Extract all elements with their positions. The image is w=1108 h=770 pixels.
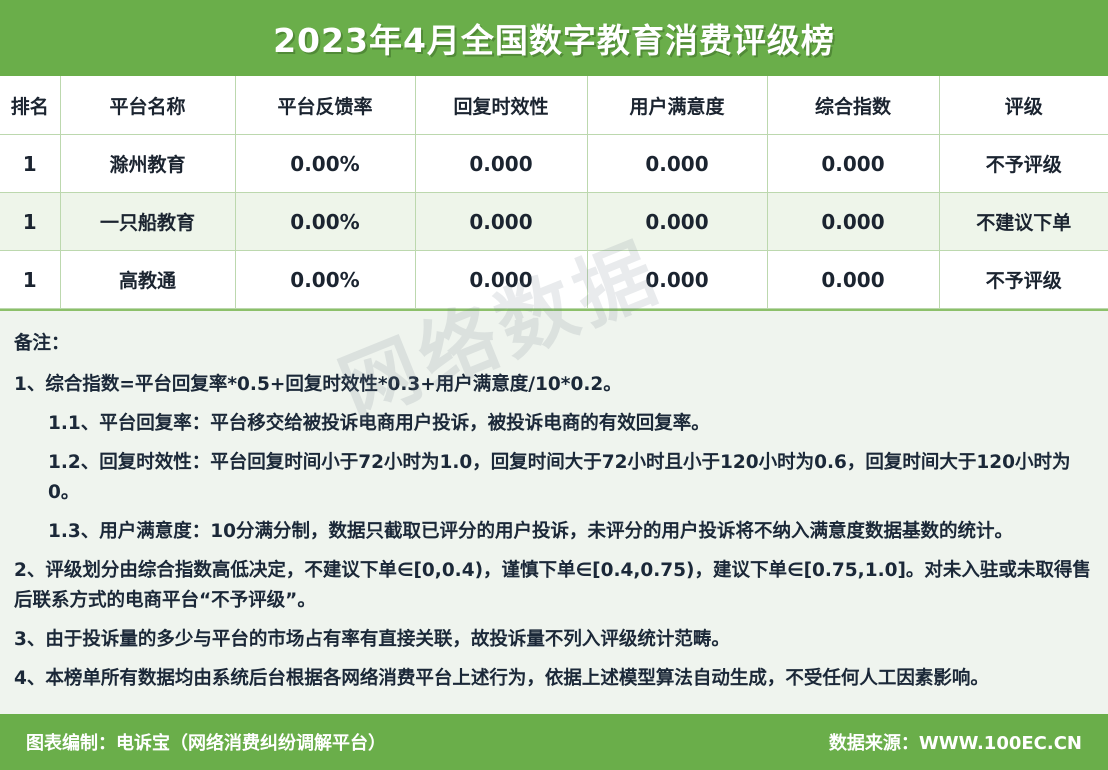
note-item-4: 4、本榜单所有数据均由系统后台根据各网络消费平台上述行为，依据上述模型算法自动生… bbox=[14, 664, 1094, 694]
cell-grade: 不予评级 bbox=[939, 135, 1108, 193]
column-header-feedback-rate: 平台反馈率 bbox=[235, 76, 415, 135]
cell-feedback-rate: 0.00% bbox=[235, 193, 415, 251]
column-header-grade: 评级 bbox=[939, 76, 1108, 135]
cell-user-satisfaction: 0.000 bbox=[587, 193, 767, 251]
cell-composite-index: 0.000 bbox=[767, 135, 939, 193]
cell-platform: 滁州教育 bbox=[60, 135, 235, 193]
cell-grade: 不予评级 bbox=[939, 251, 1108, 309]
cell-reply-timeliness: 0.000 bbox=[415, 193, 587, 251]
ranking-table-container: 排名 平台名称 平台反馈率 回复时效性 用户满意度 综合指数 评级 1 滁州教育… bbox=[0, 76, 1108, 311]
page-title: 2023年4月全国数字教育消费评级榜 bbox=[273, 14, 835, 62]
table-row: 1 一只船教育 0.00% 0.000 0.000 0.000 不建议下单 bbox=[0, 193, 1108, 251]
cell-rank: 1 bbox=[0, 135, 60, 193]
note-item-3: 3、由于投诉量的多少与平台的市场占有率有直接关联，故投诉量不列入评级统计范畴。 bbox=[14, 625, 1094, 655]
cell-feedback-rate: 0.00% bbox=[235, 135, 415, 193]
table-row: 1 滁州教育 0.00% 0.000 0.000 0.000 不予评级 bbox=[0, 135, 1108, 193]
cell-feedback-rate: 0.00% bbox=[235, 251, 415, 309]
column-header-rank: 排名 bbox=[0, 76, 60, 135]
cell-user-satisfaction: 0.000 bbox=[587, 135, 767, 193]
notes-heading: 备注： bbox=[14, 329, 1094, 359]
column-header-platform: 平台名称 bbox=[60, 76, 235, 135]
note-item-1: 1、综合指数=平台回复率*0.5+回复时效性*0.3+用户满意度/10*0.2。 bbox=[14, 370, 1094, 400]
ranking-infographic: 2023年4月全国数字教育消费评级榜 排名 平台名称 平台反馈率 回复时效性 用… bbox=[0, 0, 1108, 770]
header-bar: 2023年4月全国数字教育消费评级榜 bbox=[0, 0, 1108, 76]
column-header-user-satisfaction: 用户满意度 bbox=[587, 76, 767, 135]
ranking-table: 排名 平台名称 平台反馈率 回复时效性 用户满意度 综合指数 评级 1 滁州教育… bbox=[0, 76, 1108, 309]
note-item-2: 2、评级划分由综合指数高低决定，不建议下单∈[0,0.4)，谨慎下单∈[0.4,… bbox=[14, 556, 1094, 616]
footer-credit: 图表编制：电诉宝（网络消费纠纷调解平台） bbox=[26, 729, 386, 755]
footer-source: 数据来源：WWW.100EC.CN bbox=[829, 729, 1082, 755]
column-header-reply-timeliness: 回复时效性 bbox=[415, 76, 587, 135]
table-row: 1 高教通 0.00% 0.000 0.000 0.000 不予评级 bbox=[0, 251, 1108, 309]
notes-section: 备注： 1、综合指数=平台回复率*0.5+回复时效性*0.3+用户满意度/10*… bbox=[0, 311, 1108, 714]
cell-grade: 不建议下单 bbox=[939, 193, 1108, 251]
table-header-row: 排名 平台名称 平台反馈率 回复时效性 用户满意度 综合指数 评级 bbox=[0, 76, 1108, 135]
cell-composite-index: 0.000 bbox=[767, 251, 939, 309]
note-item-1-2: 1.2、回复时效性：平台回复时间小于72小时为1.0，回复时间大于72小时且小于… bbox=[14, 448, 1094, 508]
cell-platform: 高教通 bbox=[60, 251, 235, 309]
footer-bar: 图表编制：电诉宝（网络消费纠纷调解平台） 数据来源：WWW.100EC.CN bbox=[0, 714, 1108, 770]
cell-composite-index: 0.000 bbox=[767, 193, 939, 251]
note-item-1-1: 1.1、平台回复率：平台移交给被投诉电商用户投诉，被投诉电商的有效回复率。 bbox=[14, 409, 1094, 439]
cell-reply-timeliness: 0.000 bbox=[415, 135, 587, 193]
column-header-composite-index: 综合指数 bbox=[767, 76, 939, 135]
cell-user-satisfaction: 0.000 bbox=[587, 251, 767, 309]
note-item-1-3: 1.3、用户满意度：10分满分制，数据只截取已评分的用户投诉，未评分的用户投诉将… bbox=[14, 517, 1094, 547]
cell-reply-timeliness: 0.000 bbox=[415, 251, 587, 309]
cell-rank: 1 bbox=[0, 251, 60, 309]
cell-rank: 1 bbox=[0, 193, 60, 251]
cell-platform: 一只船教育 bbox=[60, 193, 235, 251]
